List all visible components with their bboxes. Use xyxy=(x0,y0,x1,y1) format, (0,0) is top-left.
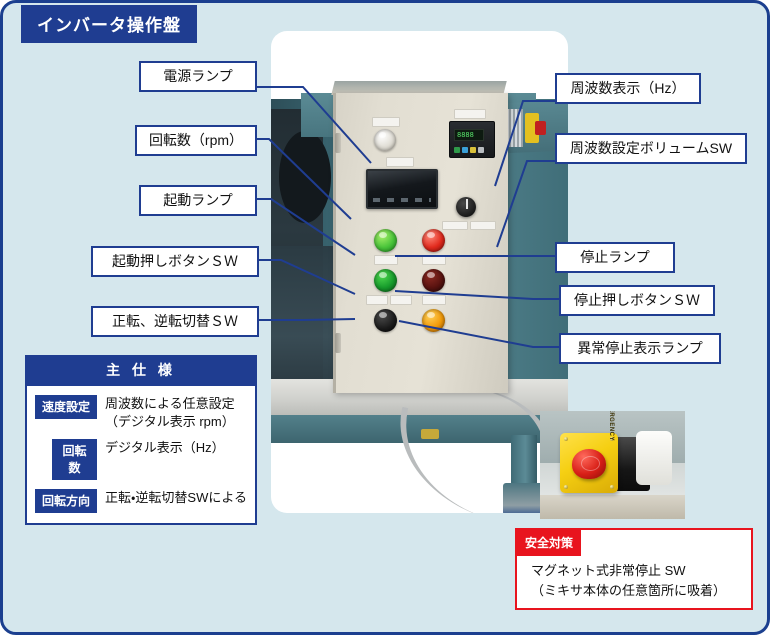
safety-line-2: （ミキサ本体の任意箇所に吸着） xyxy=(531,581,741,601)
spec-value-rotation: デジタル表示（Hz） xyxy=(105,439,225,457)
callout-frequency-display: 周波数表示（Hz） xyxy=(555,73,701,104)
stop-pushbutton[interactable] xyxy=(422,269,445,292)
safety-text: マグネット式非常停止 SW （ミキサ本体の任意箇所に吸着） xyxy=(517,556,751,608)
photo-tabletop xyxy=(540,495,685,519)
red-fitting xyxy=(535,121,546,135)
spec-row: 回転数 デジタル表示（Hz） xyxy=(35,439,247,480)
spec-value-direction: 正転・逆転切替SWによる xyxy=(105,489,247,507)
magnet-disc xyxy=(636,431,672,485)
tag-start-lamp xyxy=(374,255,398,265)
spec-row: 速度設定 周波数による任意設定（デジタル表示 rpm） xyxy=(35,395,247,430)
spec-value-speed: 周波数による任意設定（デジタル表示 rpm） xyxy=(105,395,235,430)
screw-bl-icon xyxy=(564,485,568,489)
safety-line-1: マグネット式非常停止 SW xyxy=(531,561,741,581)
tag-fault-lamp xyxy=(422,295,446,305)
fault-indicator-lamp[interactable] xyxy=(422,309,445,332)
tag-stop-lamp xyxy=(422,255,446,265)
emergency-text: EMERGENCY xyxy=(608,411,614,441)
callout-frequency-volume: 周波数設定ボリュームSW xyxy=(555,133,747,164)
rpm-digital-display xyxy=(366,169,438,209)
emergency-stop-enclosure: EMERGENCY xyxy=(560,433,618,493)
callout-rotation-speed: 回転数（rpm） xyxy=(135,125,257,156)
safety-badge: 安全対策 xyxy=(517,530,581,556)
spec-badge-direction: 回転方向 xyxy=(35,489,97,513)
emergency-stop-photo: EMERGENCY xyxy=(540,411,685,519)
tag-inverter xyxy=(454,109,486,119)
screw-br-icon xyxy=(610,485,614,489)
tag-power-lamp xyxy=(372,117,400,127)
keypad-stop-icon xyxy=(478,147,484,153)
callout-start-pushbutton: 起動押しボタンＳＷ xyxy=(91,246,259,277)
tag-forward xyxy=(366,295,388,305)
spec-row: 回転方向 正転・逆転切替SWによる xyxy=(35,489,247,513)
tag-volume-right xyxy=(470,221,496,230)
callout-stop-lamp: 停止ランプ xyxy=(555,242,675,273)
callout-stop-pushbutton: 停止押しボタンＳＷ xyxy=(559,285,715,316)
power-lamp[interactable] xyxy=(374,129,396,151)
callout-power-lamp: 電源ランプ xyxy=(139,61,257,92)
stop-lamp[interactable] xyxy=(422,229,445,252)
safety-notice: 安全対策 マグネット式非常停止 SW （ミキサ本体の任意箇所に吸着） xyxy=(515,528,753,610)
page-title: インバータ操作盤 xyxy=(21,5,197,43)
callout-fault-lamp: 異常停止表示ランプ xyxy=(559,333,721,364)
diagram-root: インバータ操作盤 xyxy=(0,0,770,635)
keypad-set-icon xyxy=(470,147,476,153)
frequency-volume-knob[interactable] xyxy=(456,197,476,217)
pulley xyxy=(279,131,331,223)
keypad-run-icon xyxy=(454,147,460,153)
spec-body: 速度設定 周波数による任意設定（デジタル表示 rpm） 回転数 デジタル表示（H… xyxy=(25,386,257,525)
spec-heading: 主 仕 様 xyxy=(25,355,257,386)
start-pushbutton[interactable] xyxy=(374,269,397,292)
screw-tl-icon xyxy=(564,437,568,441)
tag-display xyxy=(386,157,414,167)
frequency-readout xyxy=(454,129,484,141)
spec-badge-speed: 速度設定 xyxy=(35,395,97,419)
tag-reverse xyxy=(390,295,412,305)
hinge-lower-icon xyxy=(335,333,341,353)
control-cabinet xyxy=(333,93,508,393)
display-segments xyxy=(373,198,431,202)
fwd-rev-selector-switch[interactable] xyxy=(374,309,397,332)
hinge-upper-icon xyxy=(335,133,341,153)
keypad-mode-icon xyxy=(462,147,468,153)
callout-fwd-rev-selector: 正転、逆転切替ＳＷ xyxy=(91,306,259,337)
specification-table: 主 仕 様 速度設定 周波数による任意設定（デジタル表示 rpm） 回転数 デジ… xyxy=(25,355,257,525)
frequency-display-unit[interactable] xyxy=(449,121,495,158)
emergency-stop-button[interactable] xyxy=(572,449,606,479)
control-panel-photo xyxy=(271,31,568,513)
tag-volume-left xyxy=(442,221,468,230)
inverter-keypad[interactable] xyxy=(454,147,484,153)
callout-start-lamp: 起動ランプ xyxy=(139,185,257,216)
spec-badge-rotation: 回転数 xyxy=(52,439,97,480)
start-lamp[interactable] xyxy=(374,229,397,252)
